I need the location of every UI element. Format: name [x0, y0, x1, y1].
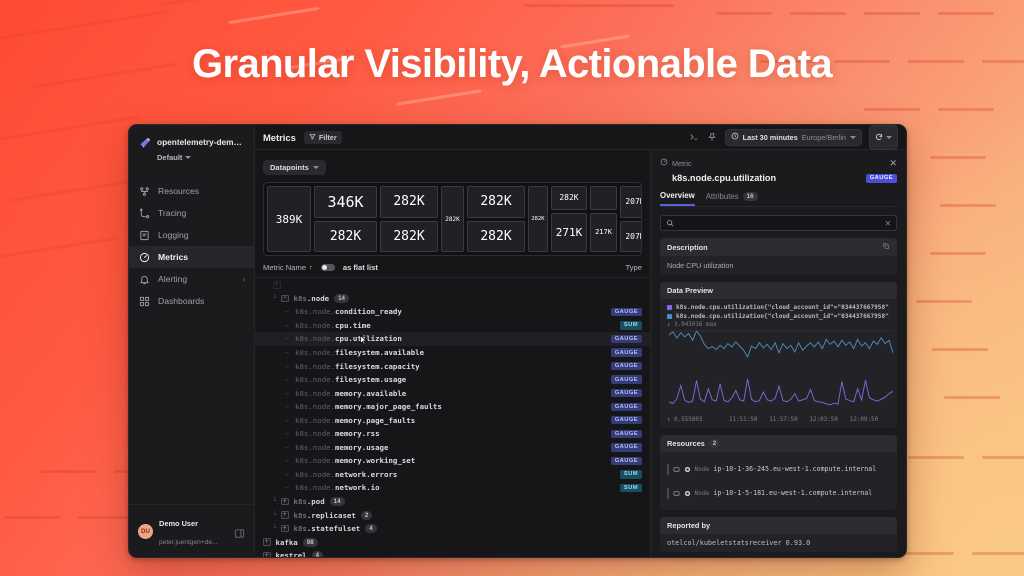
user-name: Demo User — [159, 519, 198, 528]
org-block[interactable]: opentelemetry-demo-eu Default — [129, 125, 254, 168]
sidebar-item-label: Tracing — [158, 208, 186, 218]
treemap-column: 282K271K — [551, 186, 587, 252]
funnel-icon — [309, 133, 316, 142]
chart-series-line — [669, 379, 893, 405]
legend-entry: k8s.node.cpu.utilization{"cloud_account_… — [667, 304, 890, 311]
resource-icon — [673, 460, 680, 478]
tree-group-name: k8s.statefulset — [294, 524, 361, 533]
chevron-down-icon — [850, 136, 856, 139]
metric-row[interactable]: →k8s.node.memory.working_setGAUGE — [255, 454, 650, 468]
topbar: Metrics Filter — [255, 125, 906, 150]
tree-branch-icon: └ — [272, 498, 281, 505]
chart-max-value: 3.943016 max — [674, 322, 717, 328]
tree-leaf-arrow-icon: → — [283, 322, 292, 329]
metric-row[interactable]: →k8s.node.cpu.timeSUM — [255, 319, 650, 333]
tree-group-count: 2 — [361, 511, 372, 520]
treemap-column: 282K282K — [467, 186, 525, 252]
page-headline: Granular Visibility, Actionable Data — [0, 42, 1024, 87]
environment-label: Default — [157, 153, 182, 162]
x-tick: 11:57:50 — [769, 417, 809, 423]
tree-group-name: k8s.node — [294, 294, 330, 303]
treemap-chart[interactable]: 389K346K282K282K282K282K282K282K282K282K… — [263, 182, 642, 256]
chevron-right-icon: › — [242, 275, 245, 284]
data-preview-card-body: k8s.node.cpu.utilization{"cloud_account_… — [660, 299, 897, 428]
metric-type-badge: SUM — [620, 321, 642, 329]
tree-group-count: 14 — [334, 294, 349, 303]
detail-panel: Metric ✕ k8s.node.cpu.utilization GAUGE … — [650, 150, 906, 558]
flat-list-toggle[interactable] — [321, 264, 335, 272]
tree-branch-icon: └ — [272, 295, 281, 302]
tracing-icon — [138, 207, 150, 219]
tree-branch-icon: └ — [272, 525, 281, 532]
metric-name: k8s.node.memory.rss — [295, 429, 380, 438]
metric-kind-badge: GAUGE — [866, 174, 897, 183]
node-icon — [684, 484, 691, 502]
resources-icon — [138, 185, 150, 197]
reported-by-card: Reported by otelcol/kubeletstatsreceiver… — [660, 517, 897, 552]
column-type: Type — [626, 263, 642, 272]
metric-row[interactable]: →k8s.node.memory.rssGAUGE — [255, 427, 650, 441]
avatar: DU — [138, 524, 153, 539]
tree-group-name: k8s.replicaset — [294, 511, 356, 520]
treemap-cell[interactable]: 282K — [380, 186, 438, 218]
detail-search[interactable]: ✕ — [660, 215, 897, 231]
resource-icon — [673, 484, 680, 502]
legend-swatch — [667, 305, 672, 310]
filter-button[interactable]: Filter — [304, 131, 342, 144]
resource-name: ip-10-1-36-245.eu-west-1.compute.interna… — [713, 465, 876, 473]
description-card-body: Node CPU utilization — [660, 256, 897, 275]
data-preview-chart[interactable] — [667, 329, 895, 411]
treemap-cell[interactable] — [590, 186, 617, 210]
search-input[interactable] — [679, 219, 880, 228]
resource-row[interactable]: Nodeip-10-1-5-181.eu-west-1.compute.inte… — [667, 481, 890, 505]
metric-type-badge: GAUGE — [611, 335, 642, 343]
tree-row-partial[interactable]: + — [255, 278, 650, 292]
treemap-cell[interactable]: 271K — [551, 213, 587, 252]
clock-icon — [731, 132, 739, 142]
terminal-icon[interactable] — [689, 132, 700, 143]
logging-icon — [138, 229, 150, 241]
legend-label: k8s.node.cpu.utilization{"cloud_account_… — [676, 313, 890, 320]
data-preview-card: Data Preview k8s.node.cpu.utilization{"c… — [660, 282, 897, 428]
chart-series-line — [669, 331, 893, 357]
metric-row[interactable]: →k8s.node.memory.major_page_faultsGAUGE — [255, 400, 650, 414]
metric-type-badge: GAUGE — [611, 430, 642, 438]
tree-leaf-arrow-icon: → — [283, 376, 292, 383]
tree-group-name: k8s.pod — [294, 497, 325, 506]
treemap-cell[interactable]: 282K — [441, 186, 464, 252]
tree-leaf-arrow-icon: → — [283, 390, 292, 397]
panel-toggle-icon[interactable] — [234, 526, 245, 537]
sidebar-nav: Resources Tracing Logging — [129, 180, 254, 312]
metric-row[interactable]: →k8s.node.filesystem.availableGAUGE — [255, 346, 650, 360]
treemap-cell[interactable]: 282K — [467, 186, 525, 218]
tab-attributes[interactable]: Attributes 16 — [706, 192, 758, 205]
datapoints-selector[interactable]: Datapoints — [263, 160, 326, 175]
metric-row[interactable]: →k8s.node.filesystem.usageGAUGE — [255, 373, 650, 387]
legend-label: k8s.node.cpu.utilization{"cloud_account_… — [676, 304, 890, 311]
sidebar: opentelemetry-demo-eu Default Resources — [129, 125, 255, 557]
tree-group-count: 14 — [330, 497, 345, 506]
treemap-column: 282K — [441, 186, 464, 252]
resources-card-head: Resources 2 — [660, 435, 897, 452]
metrics-icon — [660, 158, 668, 168]
search-icon — [666, 214, 674, 232]
chart-x-axis: ↕ 0.555803 11:51:50 11:57:50 12:03:50 12… — [667, 417, 890, 423]
chevron-down-icon — [313, 166, 319, 169]
tree-leaf-arrow-icon: → — [283, 484, 292, 491]
description-card: Description Node CPU utilization — [660, 238, 897, 275]
resource-row[interactable]: Nodeip-10-1-36-245.eu-west-1.compute.int… — [667, 457, 890, 481]
expand-icon[interactable]: + — [281, 511, 289, 519]
reported-by-card-head: Reported by — [660, 517, 897, 534]
treemap-cell[interactable]: 207K — [620, 186, 642, 218]
node-icon — [684, 460, 691, 478]
tree-branch-icon: └ — [272, 512, 281, 519]
arrow-up-icon: ↑ — [309, 263, 313, 272]
resources-card-body: Nodeip-10-1-36-245.eu-west-1.compute.int… — [660, 452, 897, 510]
reported-by-card-body: otelcol/kubeletstatsreceiver 0.93.0 — [660, 534, 897, 552]
copy-icon[interactable] — [882, 242, 890, 252]
metric-type-badge: GAUGE — [611, 348, 642, 356]
sidebar-item-metrics[interactable]: Metrics — [129, 246, 254, 268]
treemap-column: 346K282K — [314, 186, 377, 252]
treemap-cell[interactable]: 217K — [590, 213, 617, 252]
x-tick: 11:51:50 — [729, 417, 769, 423]
tree-group-name: kafka — [276, 538, 298, 547]
tree-leaf-arrow-icon: → — [283, 471, 292, 478]
tree-group-row[interactable]: +kestrel4 — [255, 549, 650, 558]
user-block[interactable]: DU Demo User peter.juentgen+de... — [129, 504, 254, 557]
metric-name: k8s.node.memory.available — [295, 389, 406, 398]
treemap-column: 207K207K — [620, 186, 642, 252]
metric-type-badge: GAUGE — [611, 403, 642, 411]
treemap-cell[interactable]: 282K — [528, 186, 548, 252]
description-card-head: Description — [660, 238, 897, 256]
treemap-section: Datapoints 389K346K282K282K282K282K282K2… — [255, 150, 650, 256]
tree-leaf-arrow-icon: → — [283, 308, 292, 315]
x-tick: 12:09:50 — [850, 417, 890, 423]
refresh-icon[interactable] — [875, 128, 883, 146]
treemap-column: 282K282K — [380, 186, 438, 252]
mouse-cursor — [360, 335, 367, 345]
tree-leaf-arrow-icon: → — [283, 457, 292, 464]
metric-name: k8s.node.cpu.time — [295, 321, 371, 330]
org-name: opentelemetry-demo-eu — [157, 137, 245, 147]
content-split: Datapoints 389K346K282K282K282K282K282K2… — [255, 150, 906, 558]
description-text: Node CPU utilization — [667, 261, 890, 270]
tree-group-row[interactable]: └−k8s.node14 — [255, 292, 650, 306]
sidebar-item-label: Resources — [158, 186, 199, 196]
legend-swatch — [667, 314, 672, 319]
column-metric-name[interactable]: Metric Name ↑ — [263, 263, 313, 272]
tree-leaf-arrow-icon: → — [283, 417, 292, 424]
metric-name: k8s.node.network.errors — [295, 470, 397, 479]
tree-leaf-arrow-icon: → — [283, 349, 292, 356]
legend-entry: k8s.node.cpu.utilization{"cloud_account_… — [667, 313, 890, 320]
treemap-cell[interactable]: 282K — [380, 221, 438, 253]
chevron-down-icon[interactable] — [886, 136, 892, 139]
reported-by-heading: Reported by — [667, 521, 710, 530]
main-area: Metrics Filter — [255, 125, 906, 557]
sidebar-item-alerting[interactable]: Alerting › — [129, 268, 254, 290]
chart-max-label: ↕ 3.943016 max — [667, 322, 890, 328]
clear-icon[interactable]: ✕ — [885, 219, 891, 228]
sidebar-item-dashboards[interactable]: Dashboards — [129, 290, 254, 312]
metric-type-badge: SUM — [620, 470, 642, 478]
metric-name: k8s.node.cpu.utilization — [295, 334, 402, 343]
detail-title: k8s.node.cpu.utilization — [672, 173, 776, 183]
data-preview-card-head: Data Preview — [660, 282, 897, 299]
sidebar-item-tracing[interactable]: Tracing — [129, 202, 254, 224]
metric-row[interactable]: →k8s.node.network.errorsSUM — [255, 468, 650, 482]
pin-icon[interactable] — [707, 132, 718, 143]
metric-row[interactable]: →k8s.node.condition_readyGAUGE — [255, 305, 650, 319]
metric-name: k8s.node.filesystem.capacity — [295, 362, 420, 371]
metric-type-badge: GAUGE — [611, 389, 642, 397]
metric-row[interactable]: →k8s.node.cpu.utilizationGAUGE — [255, 332, 650, 346]
flat-list-label: as flat list — [343, 263, 378, 272]
tree-leaf-arrow-icon: → — [283, 335, 292, 342]
data-preview-heading: Data Preview — [667, 286, 713, 295]
resource-accent-bar — [667, 488, 669, 499]
metrics-icon — [138, 251, 150, 263]
metric-list-body[interactable]: +└−k8s.node14→k8s.node.condition_readyGA… — [255, 278, 650, 558]
metric-row[interactable]: →k8s.node.memory.usageGAUGE — [255, 441, 650, 455]
tree-group-count: 4 — [365, 524, 376, 533]
sidebar-item-label: Metrics — [158, 252, 188, 262]
expander-icon[interactable]: + — [273, 281, 281, 289]
x-tick: 12:03:50 — [810, 417, 850, 423]
tree-leaf-arrow-icon: → — [283, 363, 292, 370]
metric-row[interactable]: →k8s.node.filesystem.capacityGAUGE — [255, 359, 650, 373]
expand-icon[interactable]: + — [263, 552, 271, 558]
tree-leaf-arrow-icon: → — [283, 444, 292, 451]
detail-tabs: Overview Attributes 16 — [660, 191, 897, 207]
app-window: opentelemetry-demo-eu Default Resources — [128, 124, 907, 558]
tree-group-row[interactable]: └+k8s.statefulset4 — [255, 522, 650, 536]
metric-type-badge: GAUGE — [611, 362, 642, 370]
chevron-down-icon — [185, 156, 191, 159]
metric-type-badge: GAUGE — [611, 416, 642, 424]
metric-row[interactable]: →k8s.node.network.ioSUM — [255, 481, 650, 495]
treemap-cell[interactable]: 282K — [467, 221, 525, 253]
sidebar-item-logging[interactable]: Logging — [129, 224, 254, 246]
treemap-cell[interactable]: 346K — [314, 186, 377, 218]
treemap-cell[interactable]: 389K — [267, 186, 311, 252]
resource-kind: Node — [695, 490, 710, 497]
tab-attributes-label: Attributes — [706, 192, 739, 201]
tree-group-row[interactable]: +kafka98 — [255, 535, 650, 549]
tree-group-name: kestrel — [276, 551, 307, 558]
treemap-cell[interactable]: 207K — [620, 221, 642, 253]
tree-leaf-arrow-icon: → — [283, 403, 292, 410]
treemap-column: 282K — [528, 186, 548, 252]
metric-name: k8s.node.network.io — [295, 483, 380, 492]
environment-selector[interactable]: Default — [157, 153, 245, 162]
metric-type-badge: GAUGE — [611, 375, 642, 383]
treemap-cell[interactable]: 282K — [551, 186, 587, 210]
resources-card: Resources 2 Nodeip-10-1-36-245.eu-west-1… — [660, 435, 897, 510]
metrics-column: Datapoints 389K346K282K282K282K282K282K2… — [255, 150, 650, 558]
treemap-column: 389K — [267, 186, 311, 252]
time-range-label: Last 30 minutes — [743, 133, 798, 142]
tab-overview[interactable]: Overview — [660, 191, 695, 206]
dashboards-icon — [138, 295, 150, 307]
bell-icon — [138, 273, 150, 285]
metric-name: k8s.node.filesystem.usage — [295, 375, 406, 384]
tab-overview-label: Overview — [660, 191, 695, 200]
reported-by-text: otelcol/kubeletstatsreceiver 0.93.0 — [667, 539, 890, 547]
metric-name: k8s.node.condition_ready — [295, 307, 402, 316]
user-email: peter.juentgen+de... — [159, 539, 217, 546]
page-title: Metrics — [263, 132, 296, 143]
column-metric-name-label: Metric Name — [263, 263, 306, 272]
expand-icon[interactable]: + — [281, 525, 289, 533]
resource-kind: Node — [695, 466, 710, 473]
metric-row[interactable]: →k8s.node.memory.availableGAUGE — [255, 386, 650, 400]
telescope-icon — [138, 135, 152, 149]
metric-type-badge: SUM — [620, 484, 642, 492]
resources-count: 2 — [709, 439, 720, 448]
detail-kicker-label: Metric — [672, 159, 692, 168]
sidebar-item-label: Alerting — [158, 274, 187, 284]
metric-row[interactable]: →k8s.node.memory.page_faultsGAUGE — [255, 413, 650, 427]
tree-group-count: 4 — [312, 551, 323, 558]
tree-group-count: 98 — [303, 538, 318, 547]
resource-accent-bar — [667, 464, 669, 475]
sidebar-item-label: Dashboards — [158, 296, 204, 306]
tree-group-row[interactable]: └+k8s.replicaset2 — [255, 508, 650, 522]
time-range-selector[interactable]: Last 30 minutes Europe/Berlin — [725, 129, 862, 146]
sidebar-item-resources[interactable]: Resources — [129, 180, 254, 202]
metric-type-badge: GAUGE — [611, 443, 642, 451]
metric-name: k8s.node.memory.page_faults — [295, 416, 415, 425]
timezone-label: Europe/Berlin — [802, 133, 846, 142]
metric-list-header: Metric Name ↑ as flat list Type — [255, 256, 650, 278]
expand-icon[interactable]: + — [281, 498, 289, 506]
filter-label: Filter — [319, 133, 337, 142]
datapoints-label: Datapoints — [270, 163, 309, 172]
treemap-column: 217K — [590, 186, 617, 252]
resources-heading: Resources — [667, 439, 705, 448]
chart-min-label: ↕ 0.555803 — [667, 417, 729, 423]
refresh-control[interactable] — [869, 125, 898, 150]
resource-name: ip-10-1-5-181.eu-west-1.compute.internal — [713, 489, 872, 497]
tree-group-row[interactable]: └+k8s.pod14 — [255, 495, 650, 509]
treemap-cell[interactable]: 282K — [314, 221, 377, 253]
tree-leaf-arrow-icon: → — [283, 430, 292, 437]
detail-title-row: k8s.node.cpu.utilization GAUGE — [660, 173, 897, 183]
metric-type-badge: GAUGE — [611, 308, 642, 316]
metric-name: k8s.node.memory.major_page_faults — [295, 402, 442, 411]
metric-name: k8s.node.filesystem.available — [295, 348, 424, 357]
expand-icon[interactable]: + — [263, 538, 271, 546]
collapse-icon[interactable]: − — [281, 295, 289, 303]
detail-kicker: Metric ✕ — [660, 158, 897, 168]
description-heading: Description — [667, 243, 708, 252]
close-icon[interactable]: ✕ — [889, 159, 897, 168]
metric-name: k8s.node.memory.usage — [295, 443, 388, 452]
sidebar-item-label: Logging — [158, 230, 189, 240]
metric-name: k8s.node.memory.working_set — [295, 456, 415, 465]
metric-type-badge: GAUGE — [611, 457, 642, 465]
tab-attributes-count: 16 — [743, 192, 758, 201]
